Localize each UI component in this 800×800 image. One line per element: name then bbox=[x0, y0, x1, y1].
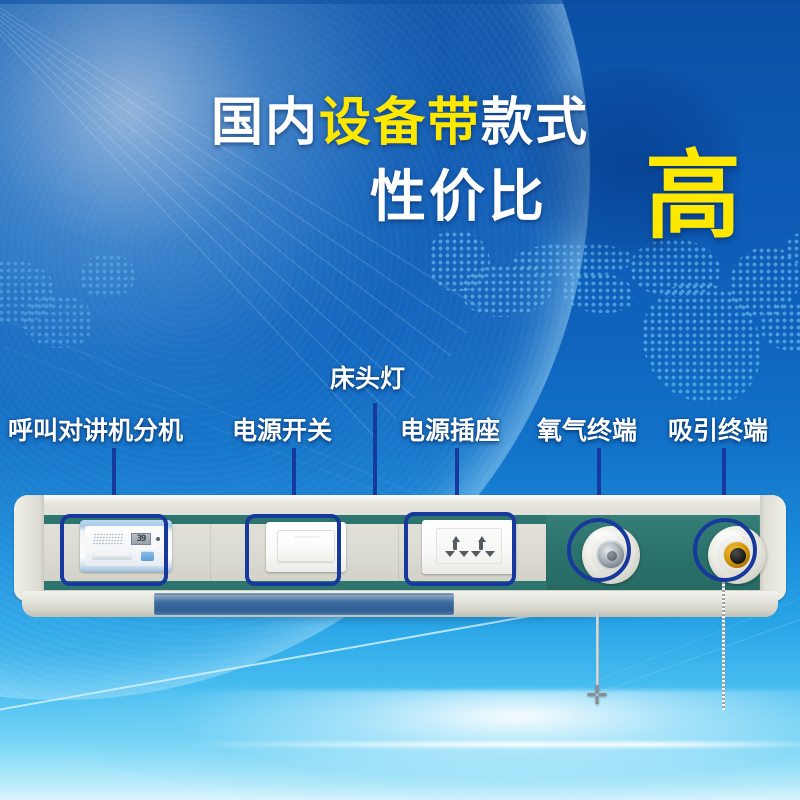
cross-hook-icon: ✛ bbox=[584, 683, 610, 709]
headline-seg-1: 国内 bbox=[211, 93, 319, 153]
highlight-circle-suction bbox=[693, 518, 757, 582]
headline-emphasis-char: 高 bbox=[645, 118, 744, 257]
callout-label-socket: 电源插座 bbox=[400, 411, 500, 447]
panel-seam bbox=[398, 524, 399, 581]
callout-label-bedlamp: 床头灯 bbox=[330, 359, 405, 395]
callout-labels: 呼叫对讲机分机 电源开关 床头灯 电源插座 氧气终端 吸引终端 bbox=[0, 355, 800, 445]
panel-top-highlight bbox=[14, 495, 786, 504]
panel-seam bbox=[546, 524, 547, 581]
callout-label-suction: 吸引终端 bbox=[668, 411, 768, 447]
highlight-box-intercom bbox=[60, 514, 168, 586]
headline-seg-3: 款式 bbox=[481, 93, 589, 153]
callout-label-switch: 电源开关 bbox=[232, 411, 332, 447]
headline-value-text: 性价比 bbox=[370, 152, 547, 233]
headline-block: 国内设备带款式 性价比 高 bbox=[0, 80, 800, 240]
poster-canvas: 国内设备带款式 性价比 高 呼叫对讲机分机 电源开关 床头灯 电源插座 氧气终端… bbox=[0, 0, 800, 800]
headline-seg-2: 设备带 bbox=[319, 93, 481, 153]
horizon-line bbox=[180, 742, 800, 747]
highlight-box-socket bbox=[404, 512, 516, 586]
panel-seam bbox=[210, 524, 211, 581]
suction-drop-cord bbox=[722, 580, 725, 710]
rail-reflective-strip bbox=[154, 593, 454, 615]
callout-label-intercom: 呼叫对讲机分机 bbox=[8, 411, 183, 447]
highlight-box-switch bbox=[245, 514, 341, 586]
highlight-circle-oxygen bbox=[567, 518, 631, 582]
callout-label-oxygen: 氧气终端 bbox=[537, 411, 637, 447]
panel-end-cap-left bbox=[14, 495, 44, 601]
